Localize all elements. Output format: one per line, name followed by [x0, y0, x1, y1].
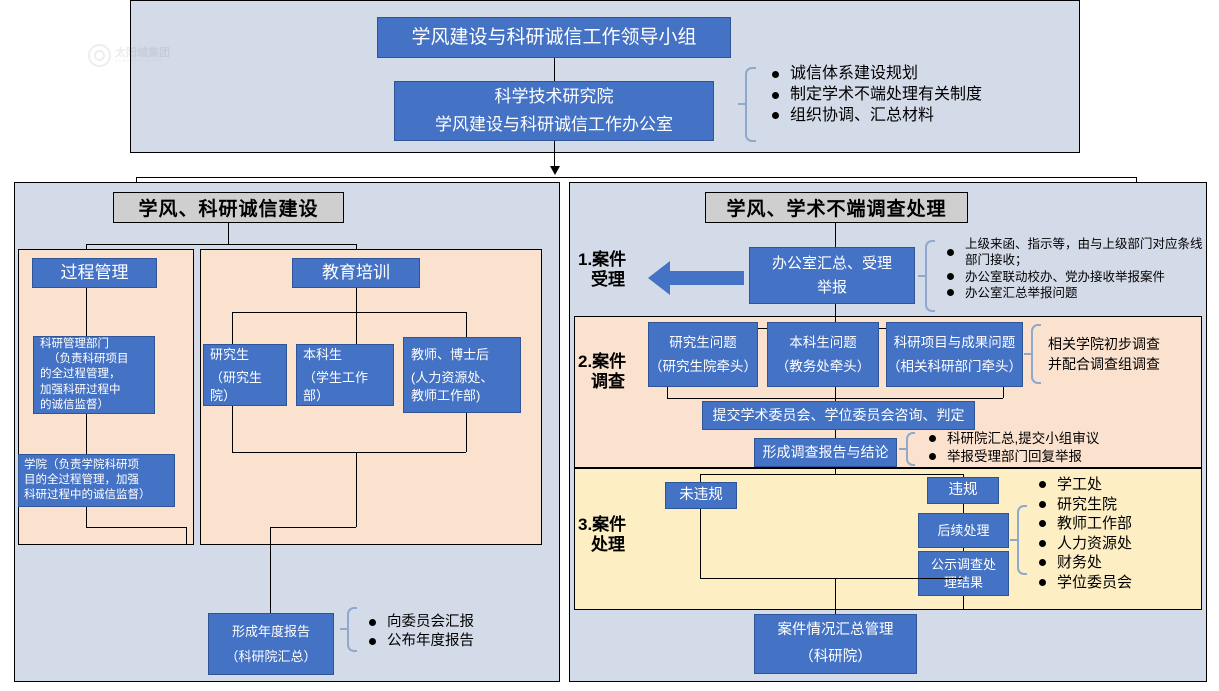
graduate-student-line1: 研究生 — [210, 346, 280, 363]
office-intake-line1: 办公室汇总、受理 — [750, 254, 914, 274]
annual-report-bullets: 向委员会汇报 公布年度报告 — [365, 613, 535, 651]
leading-group-box[interactable]: 学风建设与科研诚信工作领导小组 — [377, 17, 731, 58]
step1-bullets: 上级来函、指示等，由与上级部门对应条线部门接收； 办公室联动校办、党办接收举报案… — [943, 236, 1211, 301]
graduate-issue-line1: 研究生问题 — [649, 334, 757, 352]
case-summary-box[interactable]: 案件情况汇总管理 （科研院） — [754, 614, 917, 674]
edu-merge-bar — [232, 452, 466, 453]
step2-label-line1: 2.案件 — [578, 352, 648, 372]
college-line2: 目的全过程管理，加强 — [24, 473, 169, 488]
step1-label-line2: 受理 — [578, 270, 648, 290]
undergraduate-issue-box[interactable]: 本科生问题 （教务处牵头） — [767, 322, 879, 387]
top-duty-item: 诚信体系建设规划 — [768, 64, 1068, 85]
step2-report-bullets: 科研院汇总,提交小组审议 举报受理部门回复举报 — [925, 430, 1195, 465]
publish-result-line2: 理结果 — [919, 574, 1008, 591]
education-split-left — [232, 312, 233, 344]
case-summary-line2: （科研院） — [755, 648, 916, 667]
violation-box[interactable]: 违规 — [927, 477, 999, 504]
teacher-postdoc-line2: (人力资源处、 — [411, 369, 513, 386]
step3-departments-list: 学工处 研究生院 教师工作部 人力资源处 财务处 学位委员会 — [1035, 475, 1205, 592]
watermark-logo-icon — [88, 44, 111, 67]
edu-merge-center-down — [356, 452, 357, 527]
step2-note-text: 相关学院初步调查 并配合调查组调查 — [1048, 334, 1208, 375]
research-mgmt-dept-line1: 科研管理部门 — [40, 337, 148, 352]
connector-summary-feed — [835, 578, 836, 614]
teacher-postdoc-line3: 教师工作部) — [411, 387, 513, 404]
top-duties-list: 诚信体系建设规划 制定学术不端处理有关制度 组织协调、汇总材料 — [768, 64, 1068, 126]
annual-report-brace-notch — [340, 628, 348, 630]
step3-branch-bar — [700, 474, 963, 475]
teacher-postdoc-box[interactable]: 教师、博士后 (人力资源处、 教师工作部) — [403, 337, 521, 413]
step2-merge-to-committee — [835, 387, 836, 401]
research-mgmt-dept-line5: 的诚信监督） — [40, 398, 148, 413]
publish-result-box[interactable]: 公示调查处 理结果 — [918, 551, 1009, 596]
step1-brace — [925, 240, 935, 312]
step2-report-brace-notch — [899, 448, 907, 450]
step1-arrow-shaft — [670, 271, 744, 285]
annual-report-line1: 形成年度报告 — [209, 623, 333, 640]
annual-report-box[interactable]: 形成年度报告 （科研院汇总） — [208, 613, 334, 675]
committee-review-box[interactable]: 提交学术委员会、学位委员会咨询、判定 — [702, 401, 975, 430]
no-violation-box[interactable]: 未违规 — [665, 482, 737, 509]
step2-merge-right — [1003, 387, 1004, 398]
violation-label: 违规 — [928, 481, 998, 500]
research-mgmt-dept-line3: 的全过程管理， — [40, 367, 148, 382]
graduate-issue-box[interactable]: 研究生问题 （研究生院牵头） — [648, 322, 758, 387]
education-training-header[interactable]: 教育培训 — [292, 258, 420, 288]
process-management-header[interactable]: 过程管理 — [32, 258, 157, 288]
step3-department-item: 人力资源处 — [1035, 534, 1205, 554]
education-training-header-label: 教育培训 — [293, 262, 419, 284]
annual-report-line2: （科研院汇总） — [209, 648, 333, 665]
project-issue-line2: （相关科研部门牵头） — [887, 358, 1022, 376]
step3-label-line2: 处理 — [578, 535, 650, 555]
step1-label: 1.案件 受理 — [578, 250, 648, 290]
step1-brace-notch — [918, 275, 926, 277]
step2-report-bullet-item: 科研院汇总,提交小组审议 — [925, 430, 1195, 448]
left-panel-title-label: 学风、科研诚信建设 — [138, 194, 318, 221]
undergraduate-line2: （学生工作部） — [303, 369, 387, 403]
connector-college-down — [86, 507, 87, 527]
right-panel-title: 学风、学术不端调查处理 — [705, 192, 968, 223]
college-box[interactable]: 学院（负责学院科研项 目的全过程管理，加强 科研过程中的诚信监督） — [18, 454, 175, 507]
graduate-student-line2: （研究生院） — [210, 369, 280, 403]
step3-departments-brace — [1017, 505, 1027, 575]
process-management-header-label: 过程管理 — [33, 262, 156, 284]
top-duties-brace-notch — [738, 103, 746, 105]
step3-branch-drop — [835, 467, 836, 474]
case-summary-line1: 案件情况汇总管理 — [755, 621, 916, 640]
step2-note-brace — [1031, 324, 1041, 384]
connector-violation-followup — [963, 504, 964, 513]
step2-note-brace-notch — [1024, 353, 1032, 355]
education-split-bar — [232, 312, 466, 313]
project-issue-box[interactable]: 科研项目与成果问题 （相关科研部门牵头） — [886, 322, 1023, 387]
followup-handling-box[interactable]: 后续处理 — [918, 513, 1009, 548]
step1-label-line1: 1.案件 — [578, 250, 648, 270]
step3-department-item: 教师工作部 — [1035, 514, 1205, 534]
undergraduate-issue-line2: （教务处牵头） — [768, 358, 878, 376]
down-arrow-icon — [550, 166, 560, 175]
connector-left-merge-1 — [86, 527, 186, 528]
connector-dept-to-college — [86, 414, 87, 454]
connector-committee-to-report — [835, 430, 836, 438]
investigation-report-label: 形成调查报告与结论 — [755, 443, 896, 461]
step2-report-bullet-item: 举报受理部门回复举报 — [925, 448, 1195, 466]
edu-merge-to-report — [270, 527, 356, 528]
step3-department-item: 学工处 — [1035, 475, 1205, 495]
connector-publish-down — [963, 596, 964, 610]
leading-group-label: 学风建设与科研诚信工作领导小组 — [378, 25, 730, 50]
committee-review-label: 提交学术委员会、学位委员会咨询、判定 — [703, 406, 974, 424]
step1-bullet-item: 办公室汇总举报问题 — [943, 285, 1211, 301]
step2-note-line1: 相关学院初步调查 — [1048, 334, 1208, 354]
step3-label-line1: 3.案件 — [578, 515, 650, 535]
graduate-issue-line2: （研究生院牵头） — [649, 358, 757, 376]
project-issue-line1: 科研项目与成果问题 — [887, 334, 1022, 352]
undergraduate-box[interactable]: 本科生 （学生工作部） — [296, 344, 394, 406]
no-violation-label: 未违规 — [666, 486, 736, 505]
step3-departments-brace-notch — [1010, 539, 1018, 541]
college-line1: 学院（负责学院科研项 — [24, 458, 169, 473]
right-panel-title-label: 学风、学术不端调查处理 — [726, 194, 946, 221]
step2-note-line2: 并配合调查组调查 — [1048, 354, 1208, 374]
step1-bullet-item: 办公室联动校办、党办接收举报案件 — [943, 269, 1211, 285]
step3-department-item: 学位委员会 — [1035, 573, 1205, 593]
annual-report-bullet-item: 向委员会汇报 — [365, 613, 535, 632]
office-intake-line2: 举报 — [750, 278, 914, 298]
step3-department-item: 财务处 — [1035, 553, 1205, 573]
right-title-drop — [835, 223, 836, 247]
step3-final-merge-bar — [700, 578, 963, 579]
teacher-postdoc-line1: 教师、博士后 — [411, 346, 513, 363]
step3-label: 3.案件 处理 — [578, 515, 650, 555]
institute-office-box[interactable]: 科学技术研究院 学风建设与科研诚信工作办公室 — [394, 81, 714, 141]
connector-process-to-dept — [86, 288, 87, 336]
college-line3: 科研过程中的诚信监督） — [24, 488, 169, 503]
research-mgmt-dept-line2: （负责科研项目 — [40, 352, 156, 367]
connector-institute-down — [554, 141, 555, 166]
top-duty-item: 制定学术不端处理有关制度 — [768, 85, 1068, 106]
undergraduate-issue-line1: 本科生问题 — [768, 334, 878, 352]
graduate-student-box[interactable]: 研究生 （研究生院） — [203, 344, 287, 406]
step2-merge-left — [667, 387, 668, 398]
top-duty-item: 组织协调、汇总材料 — [768, 106, 1068, 127]
institute-line1: 科学技术研究院 — [395, 86, 713, 108]
undergraduate-line1: 本科生 — [303, 346, 387, 363]
connector-left-merge-down — [186, 527, 187, 545]
step2-report-brace — [906, 432, 915, 466]
office-intake-box[interactable]: 办公室汇总、受理 举报 — [749, 247, 915, 304]
step1-arrow-head-icon — [648, 261, 670, 295]
followup-handling-label: 后续处理 — [919, 522, 1008, 539]
edu-merge-grad — [232, 406, 233, 452]
left-title-split — [86, 244, 356, 245]
annual-report-brace — [347, 607, 357, 652]
step2-label-line2: 调查 — [578, 372, 648, 392]
edu-merge-report-drop — [270, 527, 271, 545]
top-duties-brace — [745, 67, 756, 142]
step1-bullet-item: 上级来函、指示等，由与上级部门对应条线部门接收； — [943, 236, 1211, 269]
research-mgmt-dept-line4: 加强科研过程中 — [40, 383, 148, 398]
publish-result-line1: 公示调查处 — [919, 556, 1008, 573]
research-mgmt-dept-box[interactable]: 科研管理部门 （负责科研项目 的全过程管理， 加强科研过程中 的诚信监督） — [33, 336, 155, 414]
investigation-report-box[interactable]: 形成调查报告与结论 — [754, 438, 897, 467]
institute-line2: 学风建设与科研诚信工作办公室 — [395, 114, 713, 136]
annual-report-bullet-item: 公布年度报告 — [365, 632, 535, 651]
step3-department-item: 研究生院 — [1035, 495, 1205, 515]
annual-report-feed — [270, 545, 271, 613]
step2-label: 2.案件 调查 — [578, 352, 648, 392]
left-panel-title: 学风、科研诚信建设 — [113, 192, 344, 223]
distribution-bar — [136, 177, 1137, 178]
edu-merge-teacher — [466, 413, 467, 452]
left-title-drop — [228, 223, 229, 244]
connector-leadinggroup-institute — [554, 58, 555, 81]
